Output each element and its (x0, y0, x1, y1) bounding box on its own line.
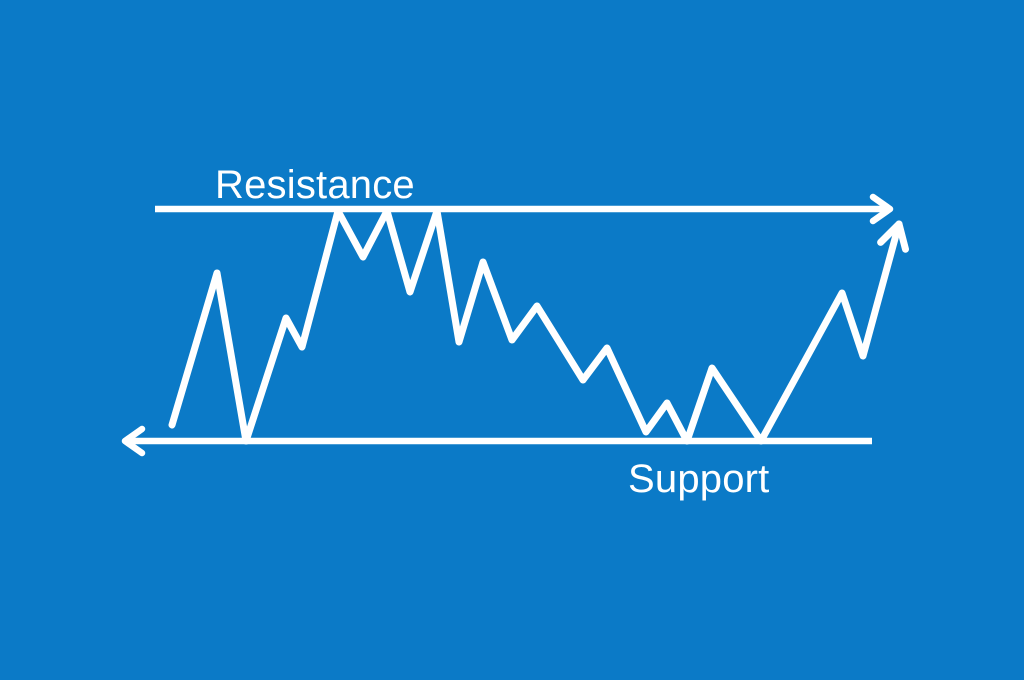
resistance-label: Resistance (215, 163, 415, 207)
diagram-canvas: Resistance Support (0, 0, 1024, 680)
support-label: Support (628, 457, 770, 501)
price-zigzag-line (172, 211, 899, 441)
support-resistance-chart: Resistance Support (0, 0, 1024, 680)
